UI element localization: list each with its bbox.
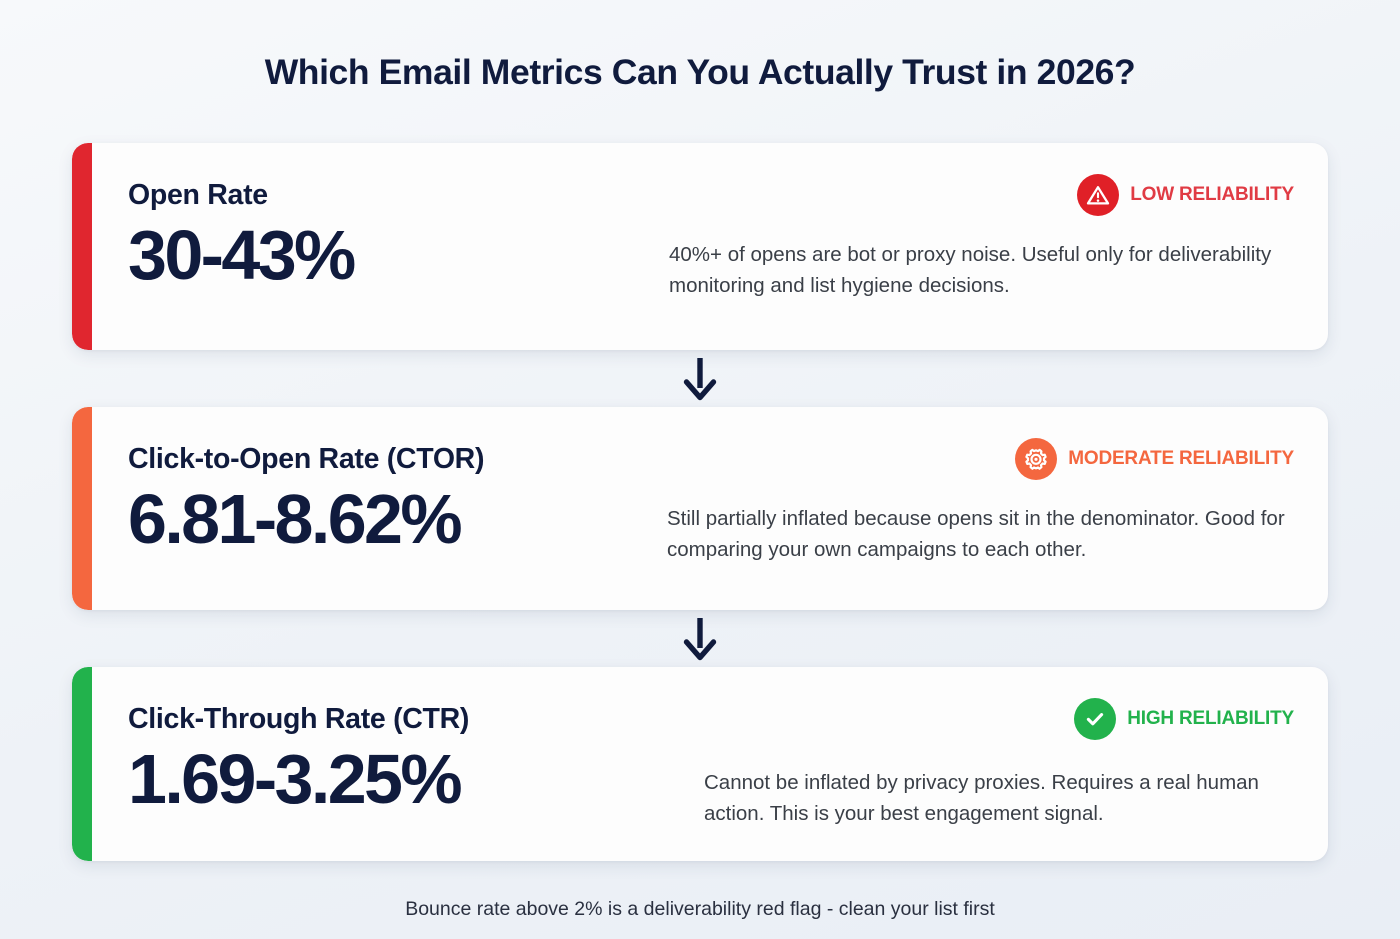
metric-value: 6.81-8.62%	[128, 482, 667, 558]
metric-name: Click-to-Open Rate (CTOR)	[128, 443, 667, 476]
status-badge-high: HIGH RELIABILITY	[667, 697, 1294, 741]
metric-info-column: MODERATE RELIABILITY Still partially inf…	[667, 407, 1328, 610]
metric-info-column: LOW RELIABILITY 40%+ of opens are bot or…	[667, 143, 1328, 350]
metric-description: Still partially inflated because opens s…	[667, 503, 1294, 565]
status-badge-low: LOW RELIABILITY	[667, 173, 1294, 217]
arrow-down-icon	[72, 610, 1328, 667]
arrow-down-icon	[72, 350, 1328, 407]
page-title: Which Email Metrics Can You Actually Tru…	[0, 52, 1400, 93]
gear-icon	[1015, 438, 1057, 480]
metric-card-open-rate: Open Rate 30-43% LOW RELIABILITY	[72, 143, 1328, 350]
metric-value: 1.69-3.25%	[128, 742, 667, 818]
infographic-page: Which Email Metrics Can You Actually Tru…	[0, 0, 1400, 939]
metric-primary-column: Open Rate 30-43%	[92, 143, 667, 350]
metric-card-stack: Open Rate 30-43% LOW RELIABILITY	[72, 143, 1328, 861]
metric-primary-column: Click-Through Rate (CTR) 1.69-3.25%	[92, 667, 667, 861]
metric-name: Open Rate	[128, 179, 667, 212]
metric-info-column: HIGH RELIABILITY Cannot be inflated by p…	[667, 667, 1328, 861]
status-badge-label: LOW RELIABILITY	[1130, 184, 1294, 206]
status-badge-label: MODERATE RELIABILITY	[1068, 448, 1294, 470]
metric-value: 30-43%	[128, 218, 667, 294]
check-circle-icon	[1074, 698, 1116, 740]
metric-card-ctr: Click-Through Rate (CTR) 1.69-3.25% HIGH…	[72, 667, 1328, 861]
status-badge-moderate: MODERATE RELIABILITY	[667, 437, 1294, 481]
metric-description: Cannot be inflated by privacy proxies. R…	[704, 767, 1294, 829]
metric-card-ctor: Click-to-Open Rate (CTOR) 6.81-8.62%	[72, 407, 1328, 610]
warning-triangle-icon	[1077, 174, 1119, 216]
metric-name: Click-Through Rate (CTR)	[128, 703, 667, 736]
footer-note: Bounce rate above 2% is a deliverability…	[0, 898, 1400, 921]
metric-description: 40%+ of opens are bot or proxy noise. Us…	[669, 239, 1294, 301]
metric-primary-column: Click-to-Open Rate (CTOR) 6.81-8.62%	[92, 407, 667, 610]
status-badge-label: HIGH RELIABILITY	[1127, 708, 1294, 730]
